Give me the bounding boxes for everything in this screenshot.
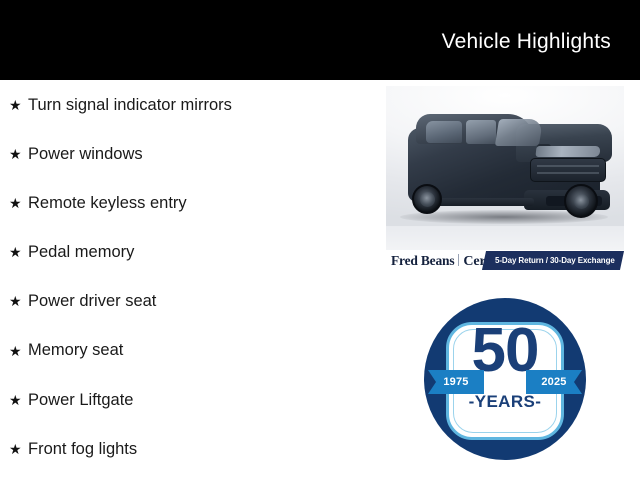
list-item: ★ Pedal memory xyxy=(0,228,380,277)
logo-divider xyxy=(458,254,459,266)
star-bullet-icon: ★ xyxy=(9,245,28,259)
header-bar: Vehicle Highlights xyxy=(0,0,640,80)
list-item: ★ Power windows xyxy=(0,129,380,178)
media-column: Fred Beans Certified 5-Day Return / 30-D… xyxy=(386,80,626,480)
vehicle-windshield xyxy=(495,119,543,146)
highlight-label: Remote keyless entry xyxy=(28,194,187,212)
badge-circle: 50 -YEARS- 1975 2025 xyxy=(424,298,586,460)
page-title: Vehicle Highlights xyxy=(442,30,611,54)
main-content: ★ Turn signal indicator mirrors ★ Power … xyxy=(0,80,640,480)
vehicle-highlights-list: ★ Turn signal indicator mirrors ★ Power … xyxy=(0,80,380,474)
star-bullet-icon: ★ xyxy=(9,147,28,161)
star-bullet-icon: ★ xyxy=(9,294,28,308)
list-item: ★ Memory seat xyxy=(0,326,380,375)
vehicle-rear-wheel xyxy=(412,184,442,214)
vehicle-grille xyxy=(530,158,606,182)
vehicle-side-window xyxy=(466,120,496,144)
list-item: ★ Power Liftgate xyxy=(0,375,380,424)
return-exchange-banner: 5-Day Return / 30-Day Exchange xyxy=(482,251,624,270)
badge-end-year-ribbon: 2025 xyxy=(526,370,582,394)
highlight-label: Pedal memory xyxy=(28,243,134,261)
suv-illustration xyxy=(396,102,612,230)
star-bullet-icon: ★ xyxy=(9,196,28,210)
badge-start-year: 1975 xyxy=(443,376,468,388)
highlight-label: Turn signal indicator mirrors xyxy=(28,96,232,114)
list-item: ★ Turn signal indicator mirrors xyxy=(0,80,380,129)
star-bullet-icon: ★ xyxy=(9,344,28,358)
list-item: ★ Power driver seat xyxy=(0,277,380,326)
dealer-name: Fred Beans xyxy=(391,253,454,269)
vehicle-front-wheel xyxy=(564,184,598,218)
certified-badge-bar: Fred Beans Certified 5-Day Return / 30-D… xyxy=(386,250,624,272)
vehicle-rear-window xyxy=(426,121,462,143)
star-bullet-icon: ★ xyxy=(9,393,28,407)
highlight-label: Power driver seat xyxy=(28,292,156,310)
highlight-label: Memory seat xyxy=(28,341,123,359)
vehicle-photo[interactable]: Fred Beans Certified 5-Day Return / 30-D… xyxy=(386,86,624,272)
highlight-label: Power Liftgate xyxy=(28,391,133,409)
list-item: ★ Remote keyless entry xyxy=(0,178,380,227)
badge-start-year-ribbon: 1975 xyxy=(428,370,484,394)
badge-end-year: 2025 xyxy=(541,376,566,388)
anniversary-badge: 50 -YEARS- 1975 2025 xyxy=(424,296,586,462)
highlight-label: Front fog lights xyxy=(28,440,137,458)
star-bullet-icon: ★ xyxy=(9,98,28,112)
badge-years-label: -YEARS- xyxy=(424,392,586,412)
list-item: ★ Front fog lights xyxy=(0,424,380,473)
star-bullet-icon: ★ xyxy=(9,442,28,456)
vehicle-headlight xyxy=(535,146,600,157)
highlight-label: Power windows xyxy=(28,145,143,163)
return-exchange-text: 5-Day Return / 30-Day Exchange xyxy=(495,256,615,265)
